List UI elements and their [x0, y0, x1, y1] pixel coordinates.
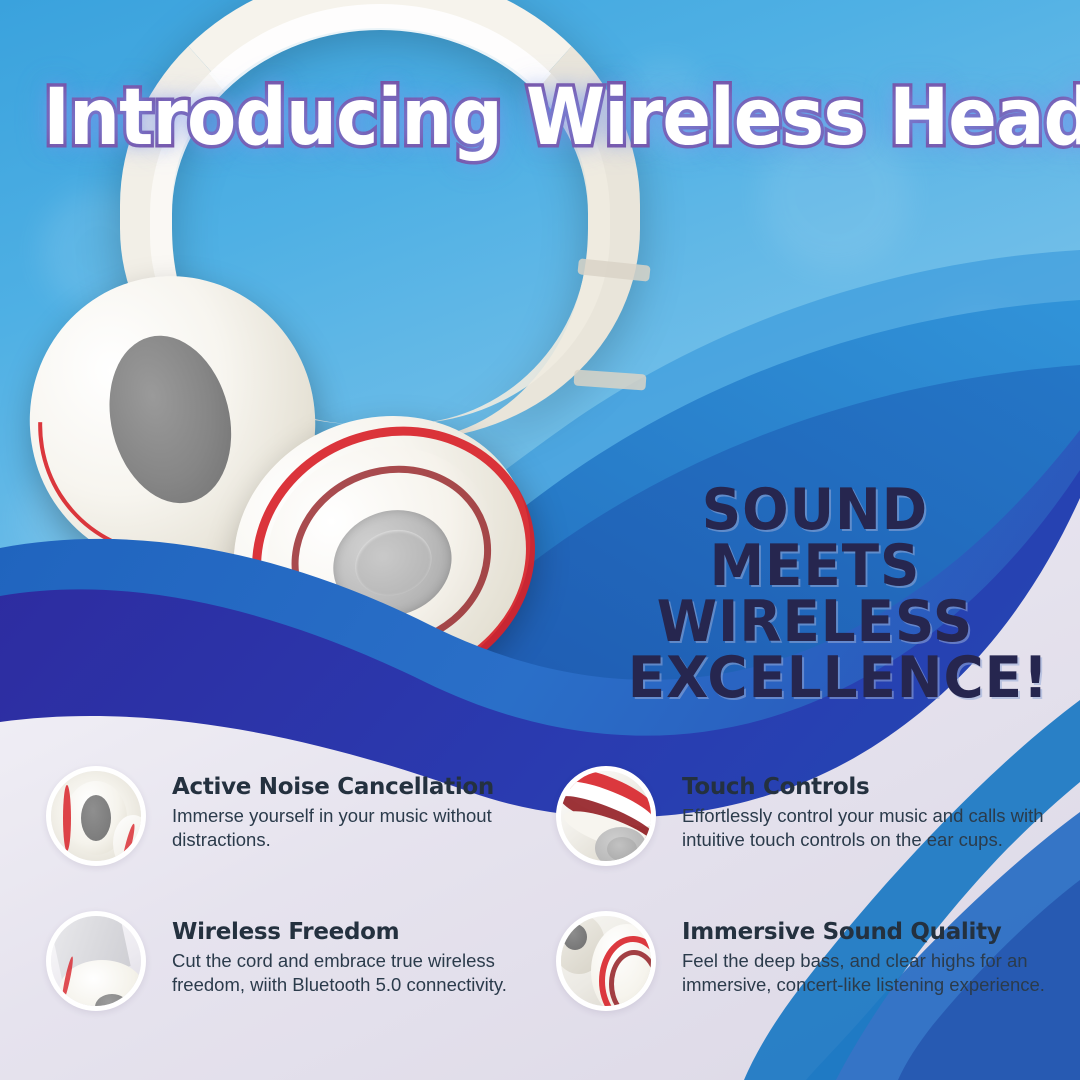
feature-body: Immerse yourself in your music without d… — [172, 804, 542, 852]
headband-cushion-icon — [46, 911, 146, 1011]
tagline-block: SOUND MEETS WIRELESS EXCELLENCE! — [620, 482, 1010, 706]
earcup-photo-icon — [46, 766, 146, 866]
earcup-pair-icon — [556, 911, 656, 1011]
feature-item-active-noise-cancellation: Active Noise Cancellation Immerse yourse… — [46, 762, 546, 907]
feature-list: Active Noise Cancellation Immerse yourse… — [46, 762, 1056, 1052]
tagline-line-3: WIRELESS — [628, 594, 1002, 650]
feature-heading: Wireless Freedom — [172, 919, 542, 945]
feature-heading: Immersive Sound Quality — [682, 919, 1056, 945]
page-title: Introducing Wireless Headphones — [43, 72, 1037, 164]
feature-item-touch-controls: Touch Controls Effortlessly control your… — [556, 762, 1056, 907]
tagline-line-1: SOUND — [628, 482, 1002, 538]
tagline-line-2: MEETS — [628, 538, 1002, 594]
feature-heading: Active Noise Cancellation — [172, 774, 542, 800]
tagline-line-4: EXCELLENCE! — [628, 650, 1002, 706]
feature-body: Cut the cord and embrace true wireless f… — [172, 949, 542, 997]
earcup-touch-panel-icon — [556, 766, 656, 866]
feature-item-immersive-sound-quality: Immersive Sound Quality Feel the deep ba… — [556, 907, 1056, 1052]
feature-heading: Touch Controls — [682, 774, 1056, 800]
feature-body: Effortlessly control your music and call… — [682, 804, 1056, 852]
promo-poster: Introducing Wireless Headphones SOUND ME… — [0, 0, 1080, 1080]
feature-item-wireless-freedom: Wireless Freedom Cut the cord and embrac… — [46, 907, 546, 1052]
feature-body: Feel the deep bass, and clear highs for … — [682, 949, 1056, 997]
